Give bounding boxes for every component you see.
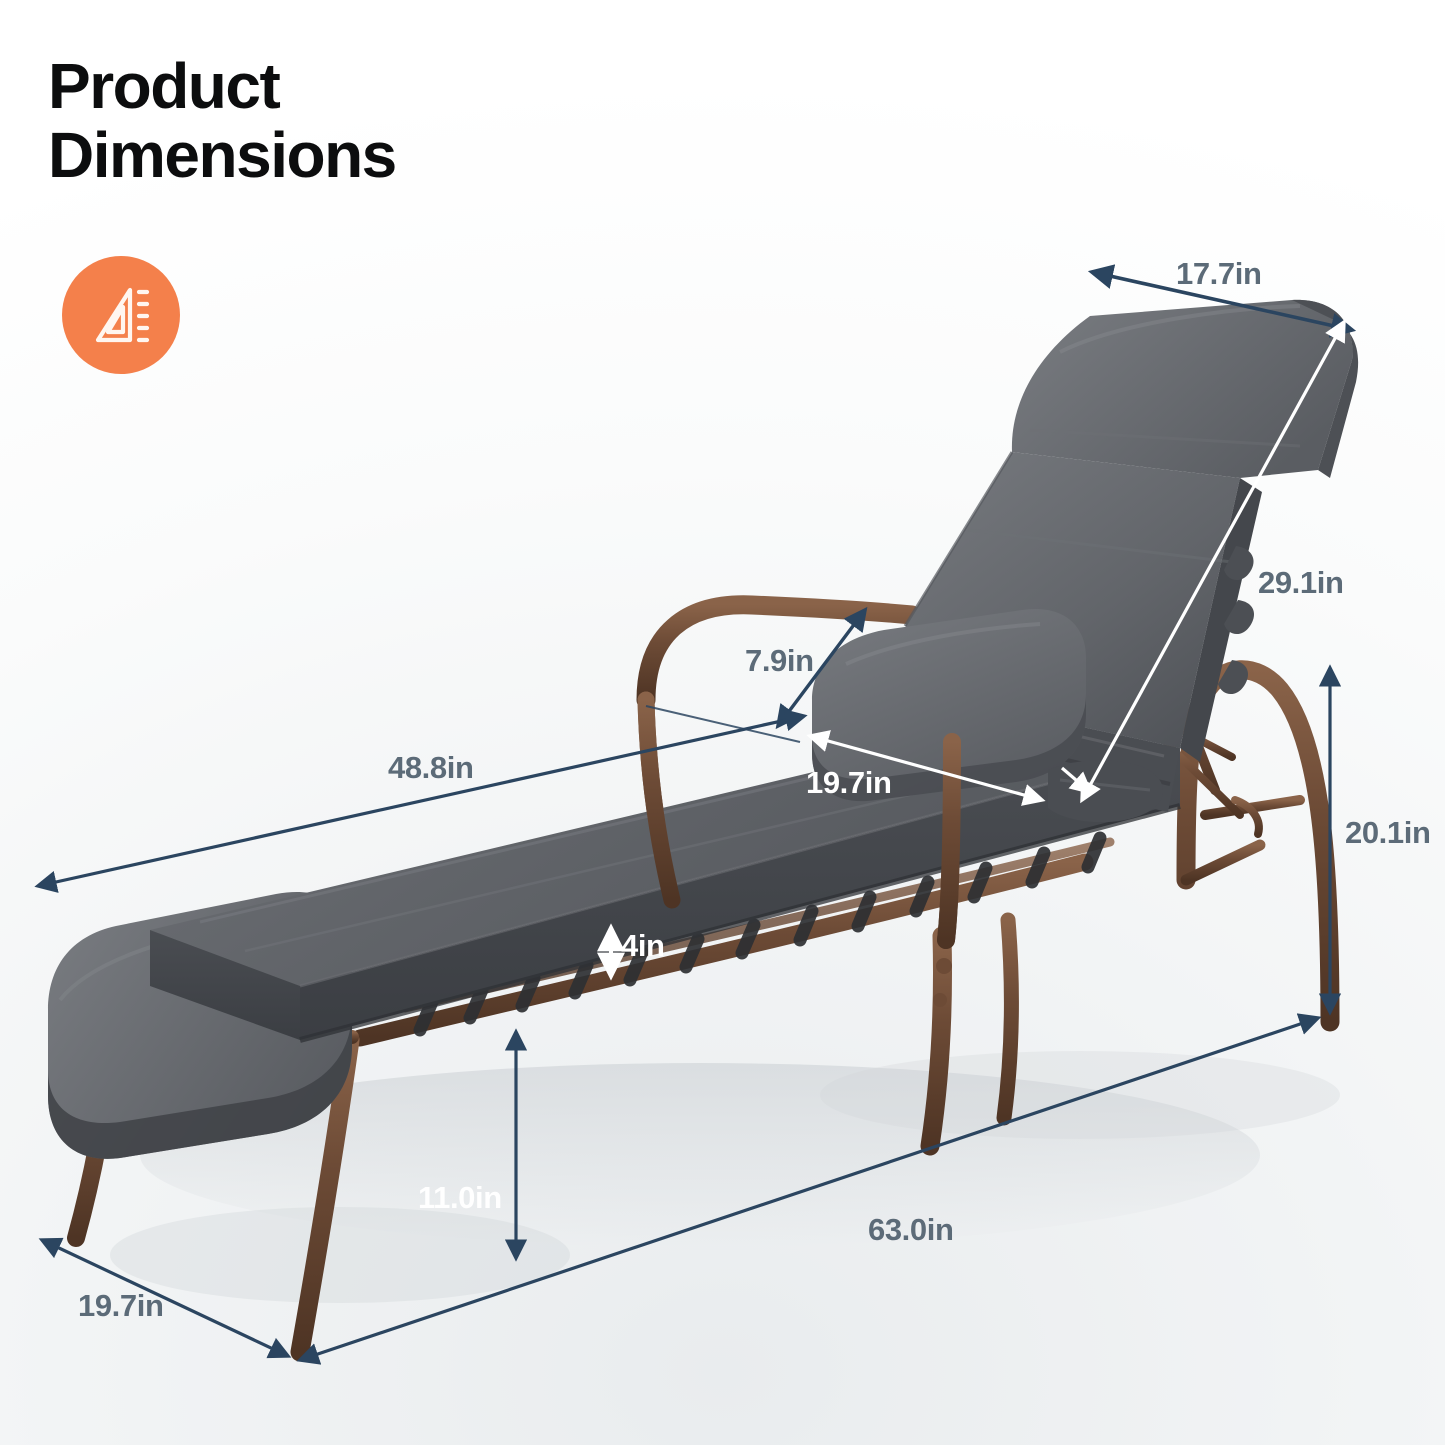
dimension-label-seat-to-foot: 48.8in bbox=[388, 750, 473, 786]
dimension-label-seat-height-front: 11.0in bbox=[418, 1180, 502, 1216]
dimension-label-seat-height-back: 20.1in bbox=[1345, 815, 1430, 851]
dimension-label-overall-width: 19.7in bbox=[78, 1288, 163, 1324]
product-illustration bbox=[0, 0, 1445, 1445]
dimension-label-overall-length: 63.0in bbox=[868, 1212, 953, 1248]
dimension-label-backrest-width: 17.7in bbox=[1176, 256, 1261, 292]
dimension-label-backrest-length: 29.1in bbox=[1258, 565, 1343, 601]
product-dimensions-infographic: Product Dimensions bbox=[0, 0, 1445, 1445]
dimension-label-cushion-thickness: 4in bbox=[621, 928, 665, 964]
armrest-far-front bbox=[946, 742, 952, 940]
dimension-label-armrest-height: 7.9in bbox=[745, 643, 814, 679]
dimension-label-seat-depth: 19.7in bbox=[806, 765, 891, 801]
